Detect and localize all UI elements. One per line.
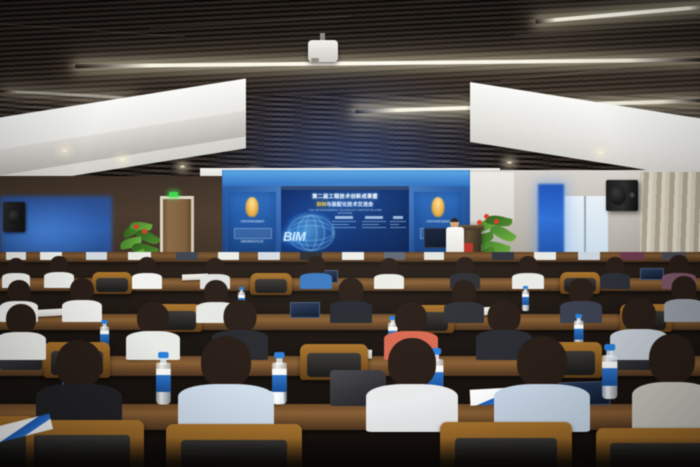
audience-person bbox=[578, 252, 600, 260]
banner-left-block bbox=[234, 228, 272, 239]
stage-banner-left: 工程技术创新成果展示 装配化建筑技术交流 bbox=[228, 192, 276, 254]
conference-hall-photo: 工程技术创新成果展示 装配化建筑技术交流 工程技术创新成果展示 装配化建筑技术交… bbox=[0, 0, 700, 467]
audience-person bbox=[342, 252, 364, 260]
projection-screen: 第二届工程技术创新成果暨 BIM与装配化技术交流会 THE 2ND ENGINE… bbox=[281, 190, 409, 252]
slide-title-bim: BIM bbox=[317, 202, 327, 208]
slide-column-1 bbox=[331, 216, 357, 229]
slide-title-suffix: 与装配化技术交流会 bbox=[326, 202, 373, 208]
audience-person bbox=[424, 252, 444, 260]
ceiling-blue-glow bbox=[210, 70, 490, 180]
audience-area bbox=[0, 252, 700, 467]
audience-person bbox=[126, 302, 180, 360]
award-emblem-icon bbox=[246, 197, 259, 217]
projector-lens-icon bbox=[311, 58, 319, 62]
confidence-monitor bbox=[424, 228, 448, 248]
downlight bbox=[60, 148, 69, 153]
backdrop-top-band bbox=[222, 170, 470, 186]
downlight bbox=[505, 160, 514, 165]
audience-person bbox=[494, 336, 590, 432]
audience-person bbox=[132, 257, 162, 289]
foreground-shadow bbox=[0, 438, 700, 467]
slide-column-3 bbox=[389, 216, 407, 229]
audience-person bbox=[176, 252, 198, 260]
audience-person bbox=[330, 278, 372, 323]
audience-person bbox=[366, 338, 458, 432]
audience-person bbox=[178, 336, 274, 432]
chair[interactable] bbox=[250, 273, 292, 295]
audience-person bbox=[600, 257, 630, 289]
audience-person bbox=[258, 252, 280, 260]
banner-left-line2: 装配化建筑技术交流 bbox=[233, 240, 271, 243]
audience-person bbox=[300, 256, 332, 289]
slide-title-line2: BIM与装配化技术交流会 bbox=[287, 202, 403, 208]
speaker-cone-icon bbox=[610, 186, 626, 205]
downlight bbox=[118, 157, 127, 162]
audience-person bbox=[374, 258, 404, 289]
speaker-cone-icon bbox=[8, 210, 19, 223]
slide-title-line1: 第二届工程技术创新成果暨 bbox=[287, 194, 403, 200]
banner-left-line1: 工程技术创新成果展示 bbox=[233, 220, 271, 223]
exit-sign bbox=[169, 192, 178, 197]
speaker-tweeter-icon bbox=[629, 192, 635, 198]
podium-plaque bbox=[463, 243, 473, 252]
laptop bbox=[640, 268, 664, 280]
audience-person bbox=[664, 276, 700, 322]
audience-person bbox=[62, 278, 102, 322]
audience-person bbox=[512, 256, 544, 289]
audience-person bbox=[492, 252, 514, 260]
slide-column-2 bbox=[361, 216, 387, 229]
audience-person bbox=[86, 252, 107, 260]
globe-bim-word: BIM bbox=[283, 230, 305, 243]
award-emblem-icon bbox=[432, 197, 445, 217]
laptop bbox=[290, 302, 320, 318]
audience-person bbox=[632, 334, 700, 432]
downlight bbox=[596, 150, 605, 155]
downlight bbox=[178, 164, 187, 169]
